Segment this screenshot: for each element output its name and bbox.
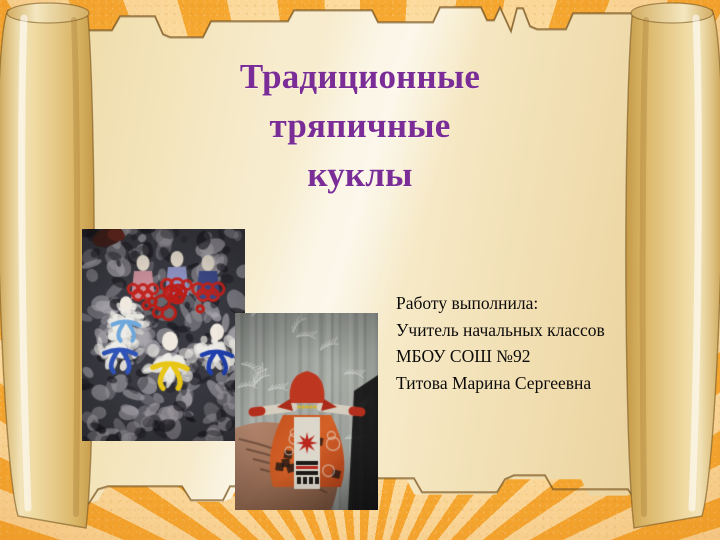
author-line-2: Учитель начальных классов xyxy=(396,317,696,344)
photo-rag-dolls-on-blanket xyxy=(82,229,245,441)
author-line-3: МБОУ СОШ №92 xyxy=(396,343,696,370)
slide-title: Традиционные тряпичные куклы xyxy=(110,52,610,199)
author-line-1: Работу выполнила: xyxy=(396,290,696,317)
scroll-roll-right xyxy=(618,0,720,540)
presentation-slide: Традиционные тряпичные куклы Работу выпо… xyxy=(0,0,720,540)
photo-hand-holding-doll xyxy=(235,313,378,510)
author-line-4: Титова Марина Сергеевна xyxy=(396,370,696,397)
author-credit-block: Работу выполнила: Учитель начальных клас… xyxy=(396,290,696,396)
